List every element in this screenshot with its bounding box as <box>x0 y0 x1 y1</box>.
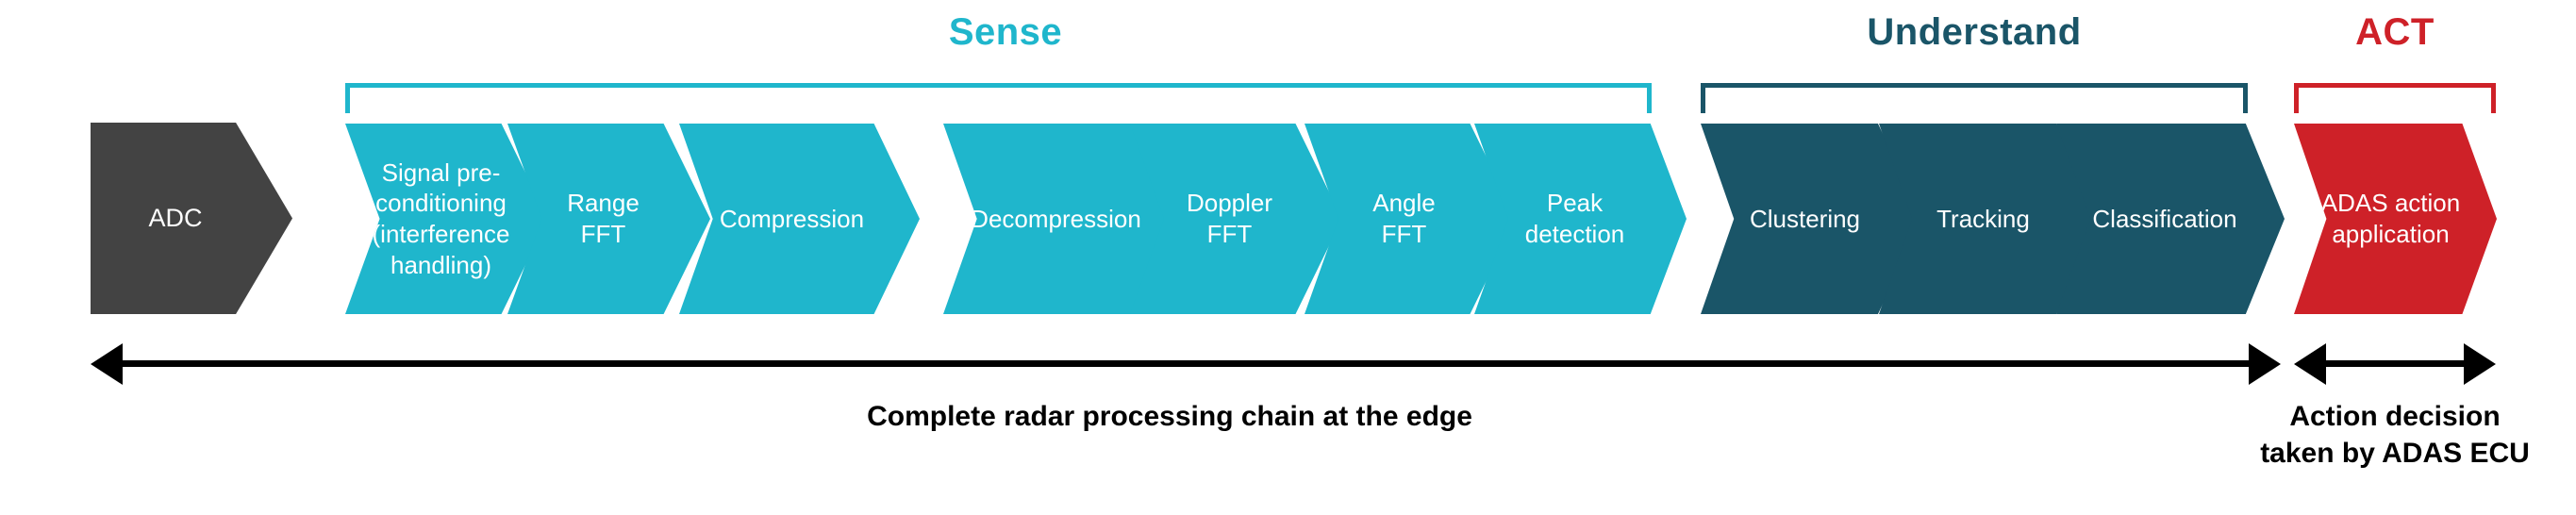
bracket-act-top <box>2294 83 2496 88</box>
bracket-understand-left <box>1701 83 1705 113</box>
stage-label: Clustering <box>1750 204 1860 235</box>
bracket-sense <box>345 83 1652 113</box>
bracket-act-right <box>2491 83 2496 113</box>
caption-edge-chain: Complete radar processing chain at the e… <box>698 398 1641 435</box>
group-label-understand: Understand <box>1786 11 2163 54</box>
adc-label: ADC <box>148 204 202 233</box>
stage-label: Decompression <box>971 204 1141 235</box>
bracket-understand-top <box>1701 83 2248 88</box>
stage-label: Peak detection <box>1525 188 1625 250</box>
bracket-sense-left <box>345 83 350 113</box>
stage-label: Signal pre- conditioning (interference h… <box>373 158 510 281</box>
bracket-act-left <box>2294 83 2299 113</box>
stage-label: Tracking <box>1936 204 2030 235</box>
arrow-head-left-edge-chain <box>91 343 123 385</box>
caption-adas-ecu: Action decision taken by ADAS ECU <box>2206 398 2576 472</box>
stage-compression[interactable]: Compression <box>679 124 920 314</box>
bracket-understand-right <box>2243 83 2248 113</box>
arrow-head-right-edge-chain <box>2249 343 2281 385</box>
stage-label: Classification <box>2092 204 2236 235</box>
adc-block[interactable]: ADC <box>91 123 292 314</box>
radar-processing-chain-diagram: Sense Understand ACT ADC Signal pre- con… <box>0 0 2576 515</box>
axis-adas-ecu <box>2324 360 2464 367</box>
stage-label: Compression <box>720 204 864 235</box>
arrow-head-left-adas-ecu <box>2294 343 2326 385</box>
bracket-sense-right <box>1647 83 1652 113</box>
bracket-understand <box>1701 83 2248 113</box>
group-label-sense: Sense <box>817 11 1194 54</box>
stage-label: Angle FFT <box>1372 188 1436 250</box>
bracket-sense-top <box>345 83 1652 88</box>
stage-adas-action-application[interactable]: ADAS action application <box>2294 124 2497 314</box>
stage-signal-preconditioning[interactable]: Signal pre- conditioning (interference h… <box>345 124 548 314</box>
stage-label: Doppler FFT <box>1187 188 1272 250</box>
stage-label: ADAS action application <box>2321 188 2460 250</box>
arrow-head-right-adas-ecu <box>2464 343 2496 385</box>
stage-classification[interactable]: Classification <box>2056 124 2285 314</box>
axis-edge-chain <box>121 360 2249 367</box>
stage-label: Range FFT <box>567 188 640 250</box>
bracket-act <box>2294 83 2496 113</box>
group-label-act: ACT <box>2206 11 2576 54</box>
